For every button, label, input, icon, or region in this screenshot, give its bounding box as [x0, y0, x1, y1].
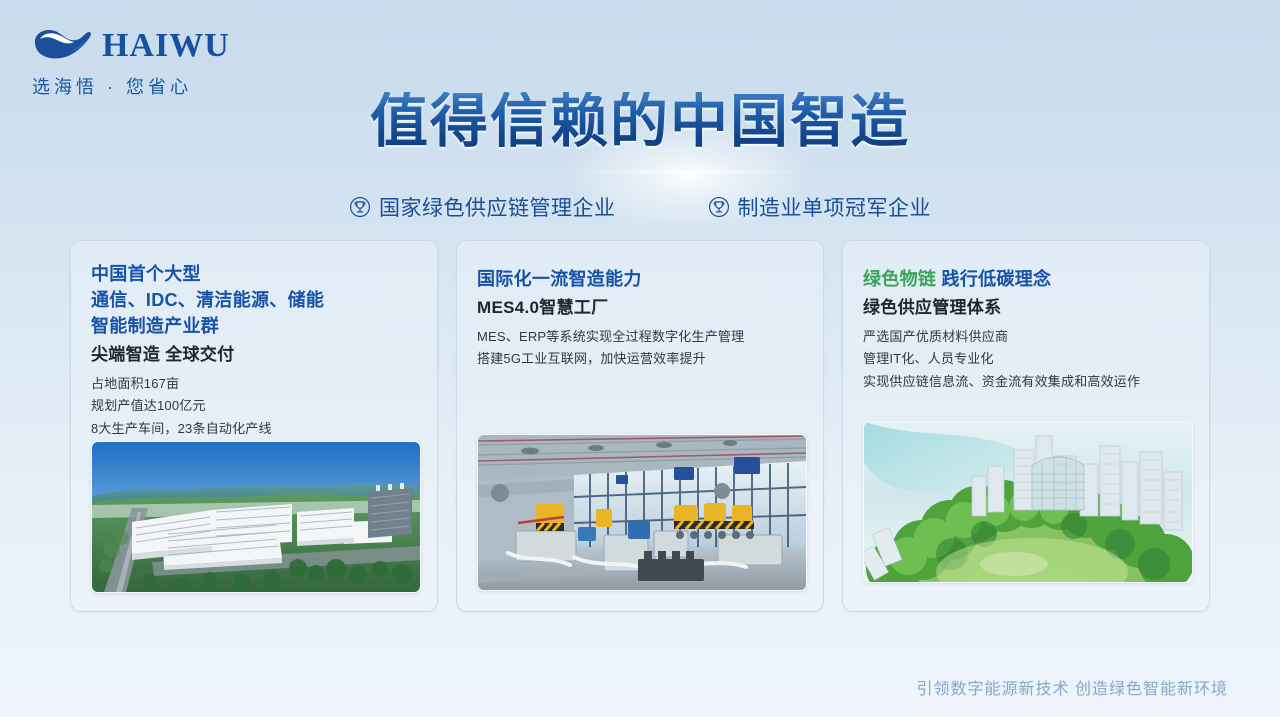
feature-card-industrial-park[interactable]: 中国首个大型 通信、IDC、清洁能源、储能 智能制造产业群 尖端智造 全球交付 …: [70, 240, 438, 612]
smart-factory-workshop-photo: [477, 434, 807, 591]
card-bullet: MES、ERP等系统实现全过程数字化生产管理: [477, 326, 803, 349]
card-title-line: 智能制造产业群: [91, 313, 417, 339]
trophy-icon: [349, 196, 371, 218]
card-title-blue-part: 践行低碳理念: [942, 269, 1052, 289]
footer-slogan: 引领数字能源新技术 创造绿色智能新环境: [917, 675, 1228, 699]
honor-badge-label: 国家绿色供应链管理企业: [379, 192, 616, 222]
trophy-icon: [708, 196, 730, 218]
feature-card-list: 中国首个大型 通信、IDC、清洁能源、储能 智能制造产业群 尖端智造 全球交付 …: [70, 240, 1210, 612]
honor-badge-list: 国家绿色供应链管理企业 制造业单项冠军企业: [0, 192, 1280, 222]
card-bullet: 搭建5G工业互联网，加快运营效率提升: [477, 348, 803, 371]
card-bullet: 实现供应链信息流、资金流有效集成和高效运作: [863, 371, 1189, 394]
card-title-line: 国际化一流智造能力: [477, 266, 803, 292]
logo-wordmark: HAIWU: [102, 29, 230, 63]
honor-badge-green-supply-chain: 国家绿色供应链管理企业: [349, 192, 616, 222]
card-bullet: 8大生产车间，23条自动化产线: [91, 418, 417, 441]
card-bullet: 规划产值达100亿元: [91, 395, 417, 418]
green-earth-city-photo: [863, 421, 1193, 583]
card-bullet-list: 严选国产优质材料供应商 管理IT化、人员专业化 实现供应链信息流、资金流有效集成…: [863, 326, 1189, 394]
feature-card-green-logistics[interactable]: 绿色物链 践行低碳理念 绿色供应管理体系 严选国产优质材料供应商 管理IT化、人…: [842, 240, 1210, 612]
feature-card-smart-factory[interactable]: 国际化一流智造能力 MES4.0智慧工厂 MES、ERP等系统实现全过程数字化生…: [456, 240, 824, 612]
honor-badge-label: 制造业单项冠军企业: [738, 192, 932, 222]
slide-canvas: HAIWU 选海悟 · 您省心 值得信赖的中国智造 国家绿色供应链管理企业: [0, 0, 1280, 717]
card-subtitle: MES4.0智慧工厂: [477, 295, 803, 321]
logo-tagline: 选海悟 · 您省心: [32, 73, 230, 99]
card-title: 中国首个大型 通信、IDC、清洁能源、储能 智能制造产业群: [91, 261, 417, 339]
card-bullet: 占地面积167亩: [91, 373, 417, 396]
card-title: 国际化一流智造能力: [477, 266, 803, 292]
card-bullet: 严选国产优质材料供应商: [863, 326, 1189, 349]
logo-row: HAIWU: [30, 26, 230, 66]
card-subtitle: 尖端智造 全球交付: [91, 342, 417, 368]
card-bullet-list: 占地面积167亩 规划产值达100亿元 8大生产车间，23条自动化产线: [91, 373, 417, 441]
page-title: 值得信赖的中国智造: [0, 92, 1280, 153]
card-subtitle: 绿色供应管理体系: [863, 295, 1189, 321]
card-title-line: 通信、IDC、清洁能源、储能: [91, 287, 417, 313]
haiwu-wave-mark-icon: [30, 26, 92, 66]
card-title: 绿色物链 践行低碳理念: [863, 266, 1189, 292]
card-bullet: 管理IT化、人员专业化: [863, 348, 1189, 371]
industrial-park-aerial-photo: [91, 441, 421, 593]
card-bullet-list: MES、ERP等系统实现全过程数字化生产管理 搭建5G工业互联网，加快运营效率提…: [477, 326, 803, 371]
card-title-line: 中国首个大型: [91, 261, 417, 287]
brand-logo: HAIWU 选海悟 · 您省心: [30, 26, 230, 99]
card-title-green-part: 绿色物链: [863, 269, 936, 289]
honor-badge-manufacturing-champion: 制造业单项冠军企业: [708, 192, 932, 222]
